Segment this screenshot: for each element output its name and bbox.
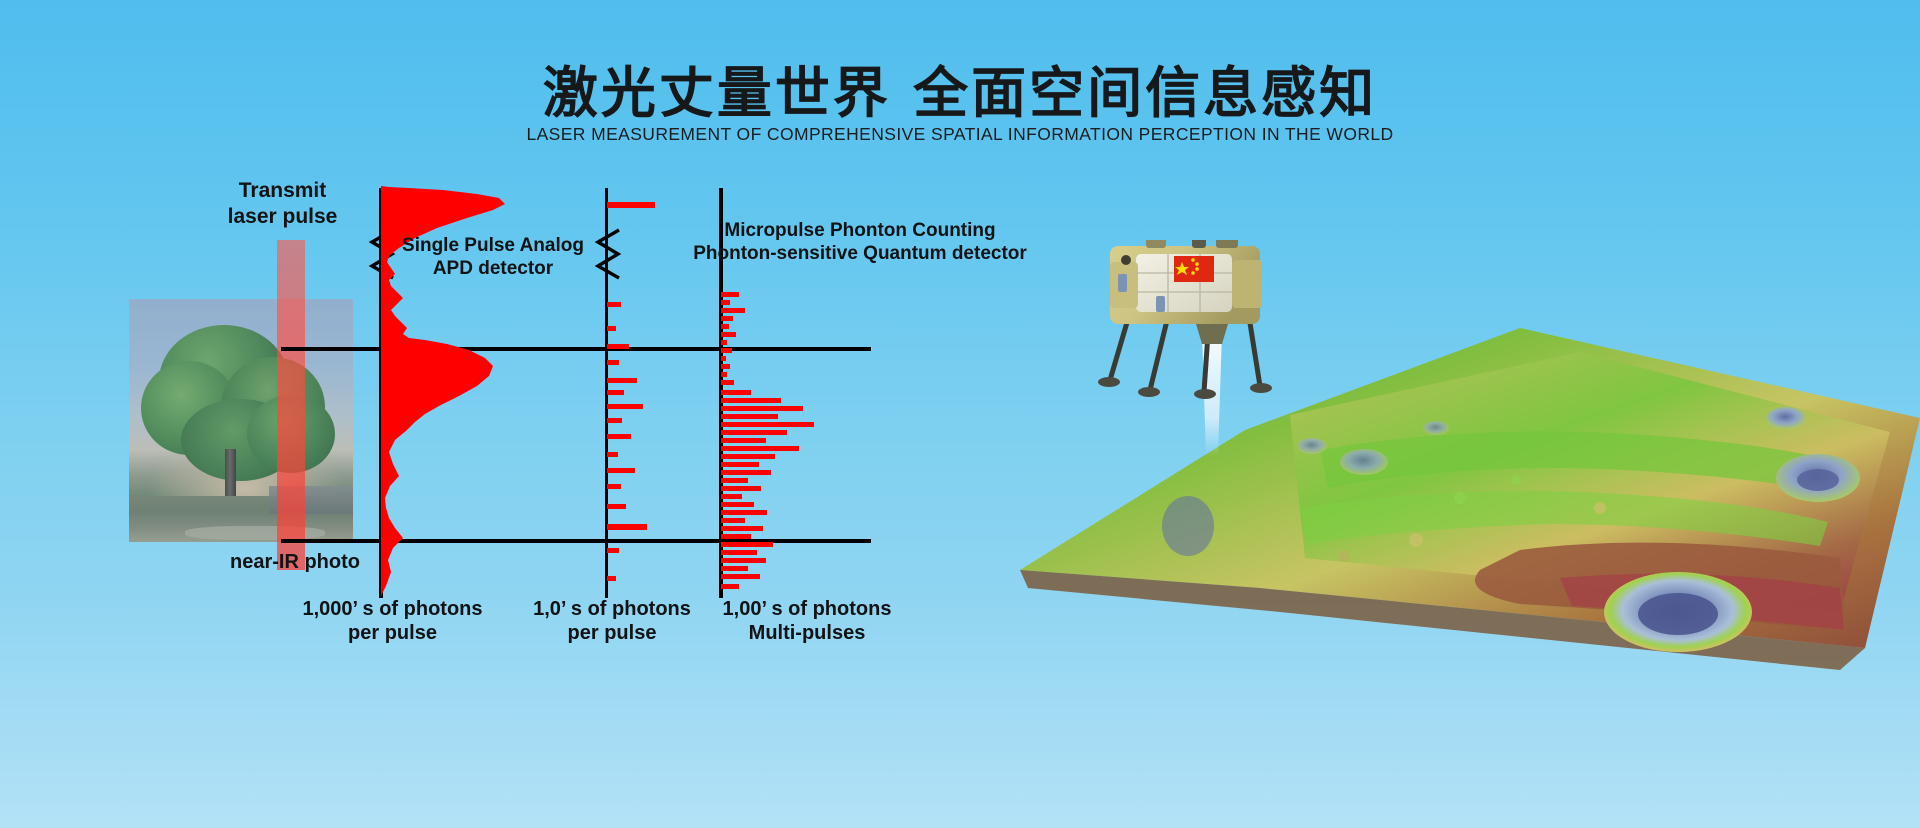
- footer-label-analog-photons: 1,000’ s of photons per pulse: [285, 597, 500, 646]
- photo-blue-overlay: [129, 299, 353, 542]
- photon-tick-top: [607, 202, 655, 208]
- label-near-ir-photo: near-IR photo: [175, 550, 415, 574]
- lunar-lander: [1098, 240, 1272, 399]
- label-single-pulse-analog-apd: Single Pulse Analog APD detector: [378, 234, 608, 280]
- footer-label-sparse-photons: 1,0’ s of photons per pulse: [512, 597, 712, 646]
- lidar-waveform-diagram: Transmit laser pulse Single Pulse Analog…: [0, 0, 1000, 828]
- transmit-laser-beam: [277, 240, 305, 570]
- lunar-lander-terrain-scene: [960, 240, 1920, 740]
- banner-stage: 激光丈量世界 全面空间信息感知 LASER MEASUREMENT OF COM…: [0, 0, 1920, 828]
- label-transmit-laser-pulse: Transmit laser pulse: [185, 178, 380, 229]
- footer-label-multipulse-photons: 1,00’ s of photons Multi-pulses: [707, 597, 907, 646]
